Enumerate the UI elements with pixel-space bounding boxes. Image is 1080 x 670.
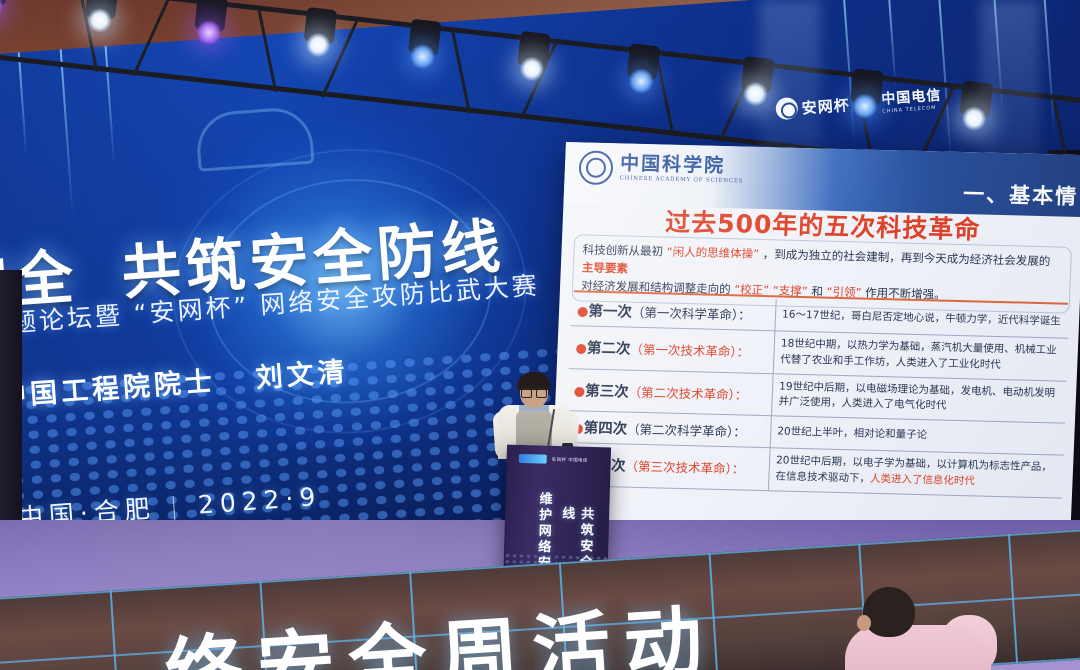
stage-light (517, 31, 551, 68)
stage-light (85, 0, 119, 20)
lead-quote1: “闲人的思维体操” (666, 245, 759, 261)
revolutions-table: ●第一次（第一次科学革命）： 16～17世纪，哥白尼否定地心说，牛顿力学，近代科… (564, 294, 1070, 498)
stage-light (194, 0, 228, 32)
row-label: ●第三次（第二次技术革命）： (567, 368, 773, 416)
conference-stage-photo: 安网杯 中国电信 CHINA TELECOM 络安全共筑安全防线 法治日主题论坛… (0, 0, 1080, 670)
cas-logo: 中国科学院 CHINESE ACADEMY OF SCIENCES (578, 150, 744, 188)
event-logo-icon (519, 454, 547, 464)
speaker-person (492, 375, 578, 455)
lead-part2: ，到成为独立的社会建制，再到今天成为经济社会发展的 (763, 247, 1051, 268)
foreground-attendee (845, 585, 995, 670)
row-detail: 18世纪中期，以热力学为基础，蒸汽机大量使用、机械工业代替了农业和手工作坊，人类… (773, 331, 1068, 381)
lead-highlight1: 主导要素 (582, 260, 629, 275)
stage-light (627, 43, 661, 80)
row-detail: 19世纪中后期，以电磁场理论为基础，发电机、电动机发明并广泛使用，人类进入了电气… (771, 373, 1066, 423)
slide-section-tag: 一、基本情 (963, 178, 1079, 211)
stage-light (304, 7, 338, 44)
podium-logos: 安网杯 中国电信 (519, 454, 588, 465)
stage-light (0, 0, 9, 5)
cas-seal-icon (578, 150, 613, 185)
row-detail: 20世纪中后期，以电子学为基础，以计算机为标志性产品，在信息技术驱动下，人类进入… (768, 448, 1063, 498)
lead-part1: 科技创新从最初 (582, 242, 663, 258)
glasses-icon (521, 388, 547, 396)
row-label: ●第四次（第二次科学革命）： (566, 411, 772, 448)
stage-light (850, 68, 884, 105)
projected-presentation-slide: 中国科学院 CHINESE ACADEMY OF SCIENCES 一、基本情 … (549, 142, 1080, 575)
stage-light (408, 19, 442, 56)
row-label: ●第一次（第一次科学革命）： (570, 294, 776, 331)
row-label: ●第二次（第一次技术革命）： (569, 326, 775, 374)
podium-logo-label: 安网杯 中国电信 (552, 456, 588, 463)
cas-logo-text: 中国科学院 CHINESE ACADEMY OF SCIENCES (619, 155, 744, 186)
